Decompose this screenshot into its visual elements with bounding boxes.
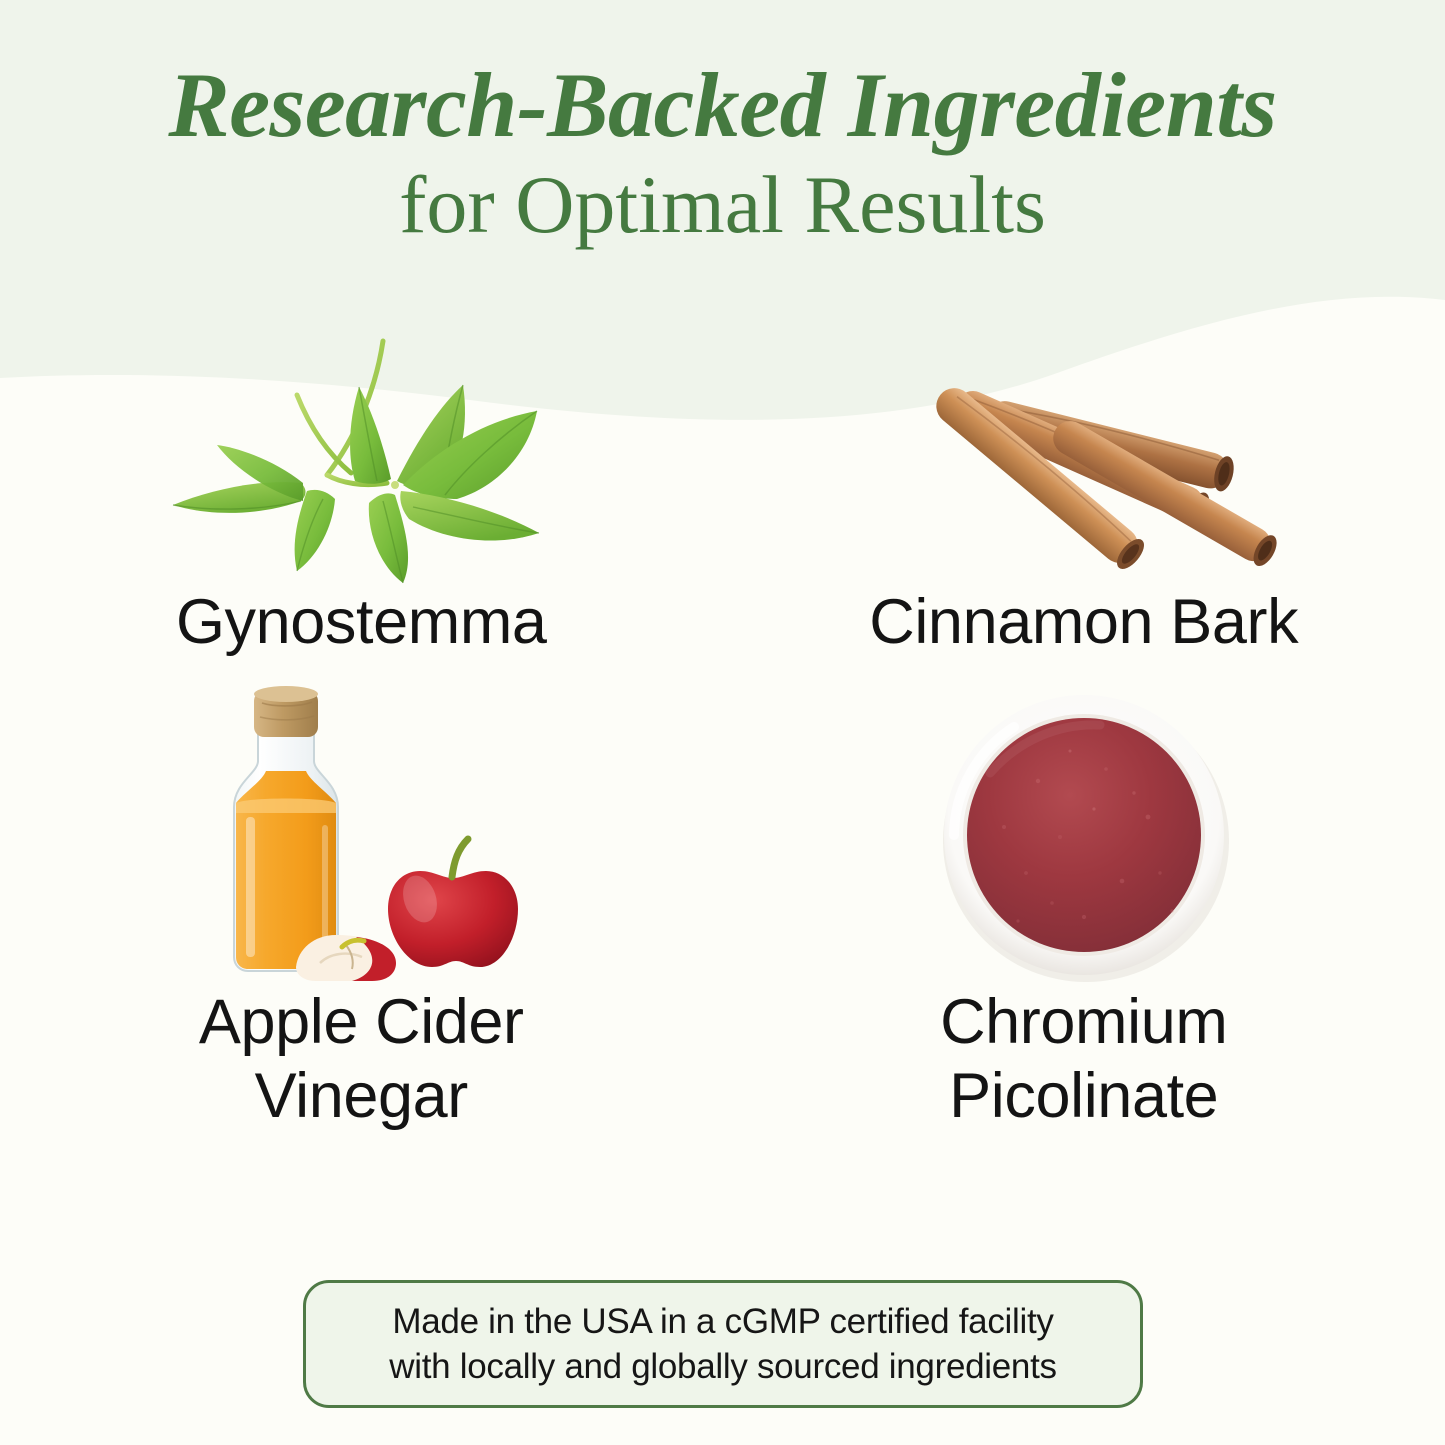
chromium-bowl-icon bbox=[934, 685, 1234, 985]
made-in-usa-badge: Made in the USA in a cGMP certified faci… bbox=[303, 1280, 1143, 1408]
acv-icon bbox=[196, 685, 526, 985]
ingredient-label-chromium-picolinate: Chromium Picolinate bbox=[940, 985, 1227, 1134]
ingredient-card-cinnamon-bark: Cinnamon Bark bbox=[723, 330, 1445, 685]
badge-line-2: with locally and globally sourced ingred… bbox=[389, 1344, 1056, 1390]
cinnamon-icon bbox=[874, 333, 1294, 583]
gynostemma-icon bbox=[151, 333, 571, 583]
vinegar-bottle-apple-image bbox=[0, 685, 723, 985]
ingredient-card-apple-cider-vinegar: Apple Cider Vinegar bbox=[0, 685, 723, 1035]
ingredient-label-apple-cider-vinegar: Apple Cider Vinegar bbox=[199, 985, 524, 1134]
ingredient-label-line1: Chromium bbox=[940, 985, 1227, 1059]
ingredient-label-cinnamon-bark: Cinnamon Bark bbox=[869, 585, 1298, 659]
ingredient-label-line2: Vinegar bbox=[199, 1059, 524, 1133]
heading-block: Research-Backed Ingredients for Optimal … bbox=[0, 58, 1445, 251]
ingredient-label-line2: Picolinate bbox=[940, 1059, 1227, 1133]
ingredient-label-gynostemma: Gynostemma bbox=[176, 585, 547, 659]
cinnamon-sticks-image bbox=[723, 330, 1445, 585]
ingredient-card-gynostemma: Gynostemma bbox=[0, 330, 723, 685]
page-title: Research-Backed Ingredients bbox=[0, 58, 1445, 153]
badge-line-1: Made in the USA in a cGMP certified faci… bbox=[392, 1299, 1053, 1345]
ingredients-infographic: Research-Backed Ingredients for Optimal … bbox=[0, 0, 1445, 1445]
red-powder-bowl-image bbox=[723, 685, 1445, 985]
page-subtitle: for Optimal Results bbox=[0, 159, 1445, 251]
ingredients-grid: Gynostemma bbox=[0, 330, 1445, 1035]
ingredient-card-chromium-picolinate: Chromium Picolinate bbox=[723, 685, 1445, 1035]
gynostemma-leaves-image bbox=[0, 330, 723, 585]
ingredient-label-line1: Apple Cider bbox=[199, 985, 524, 1059]
